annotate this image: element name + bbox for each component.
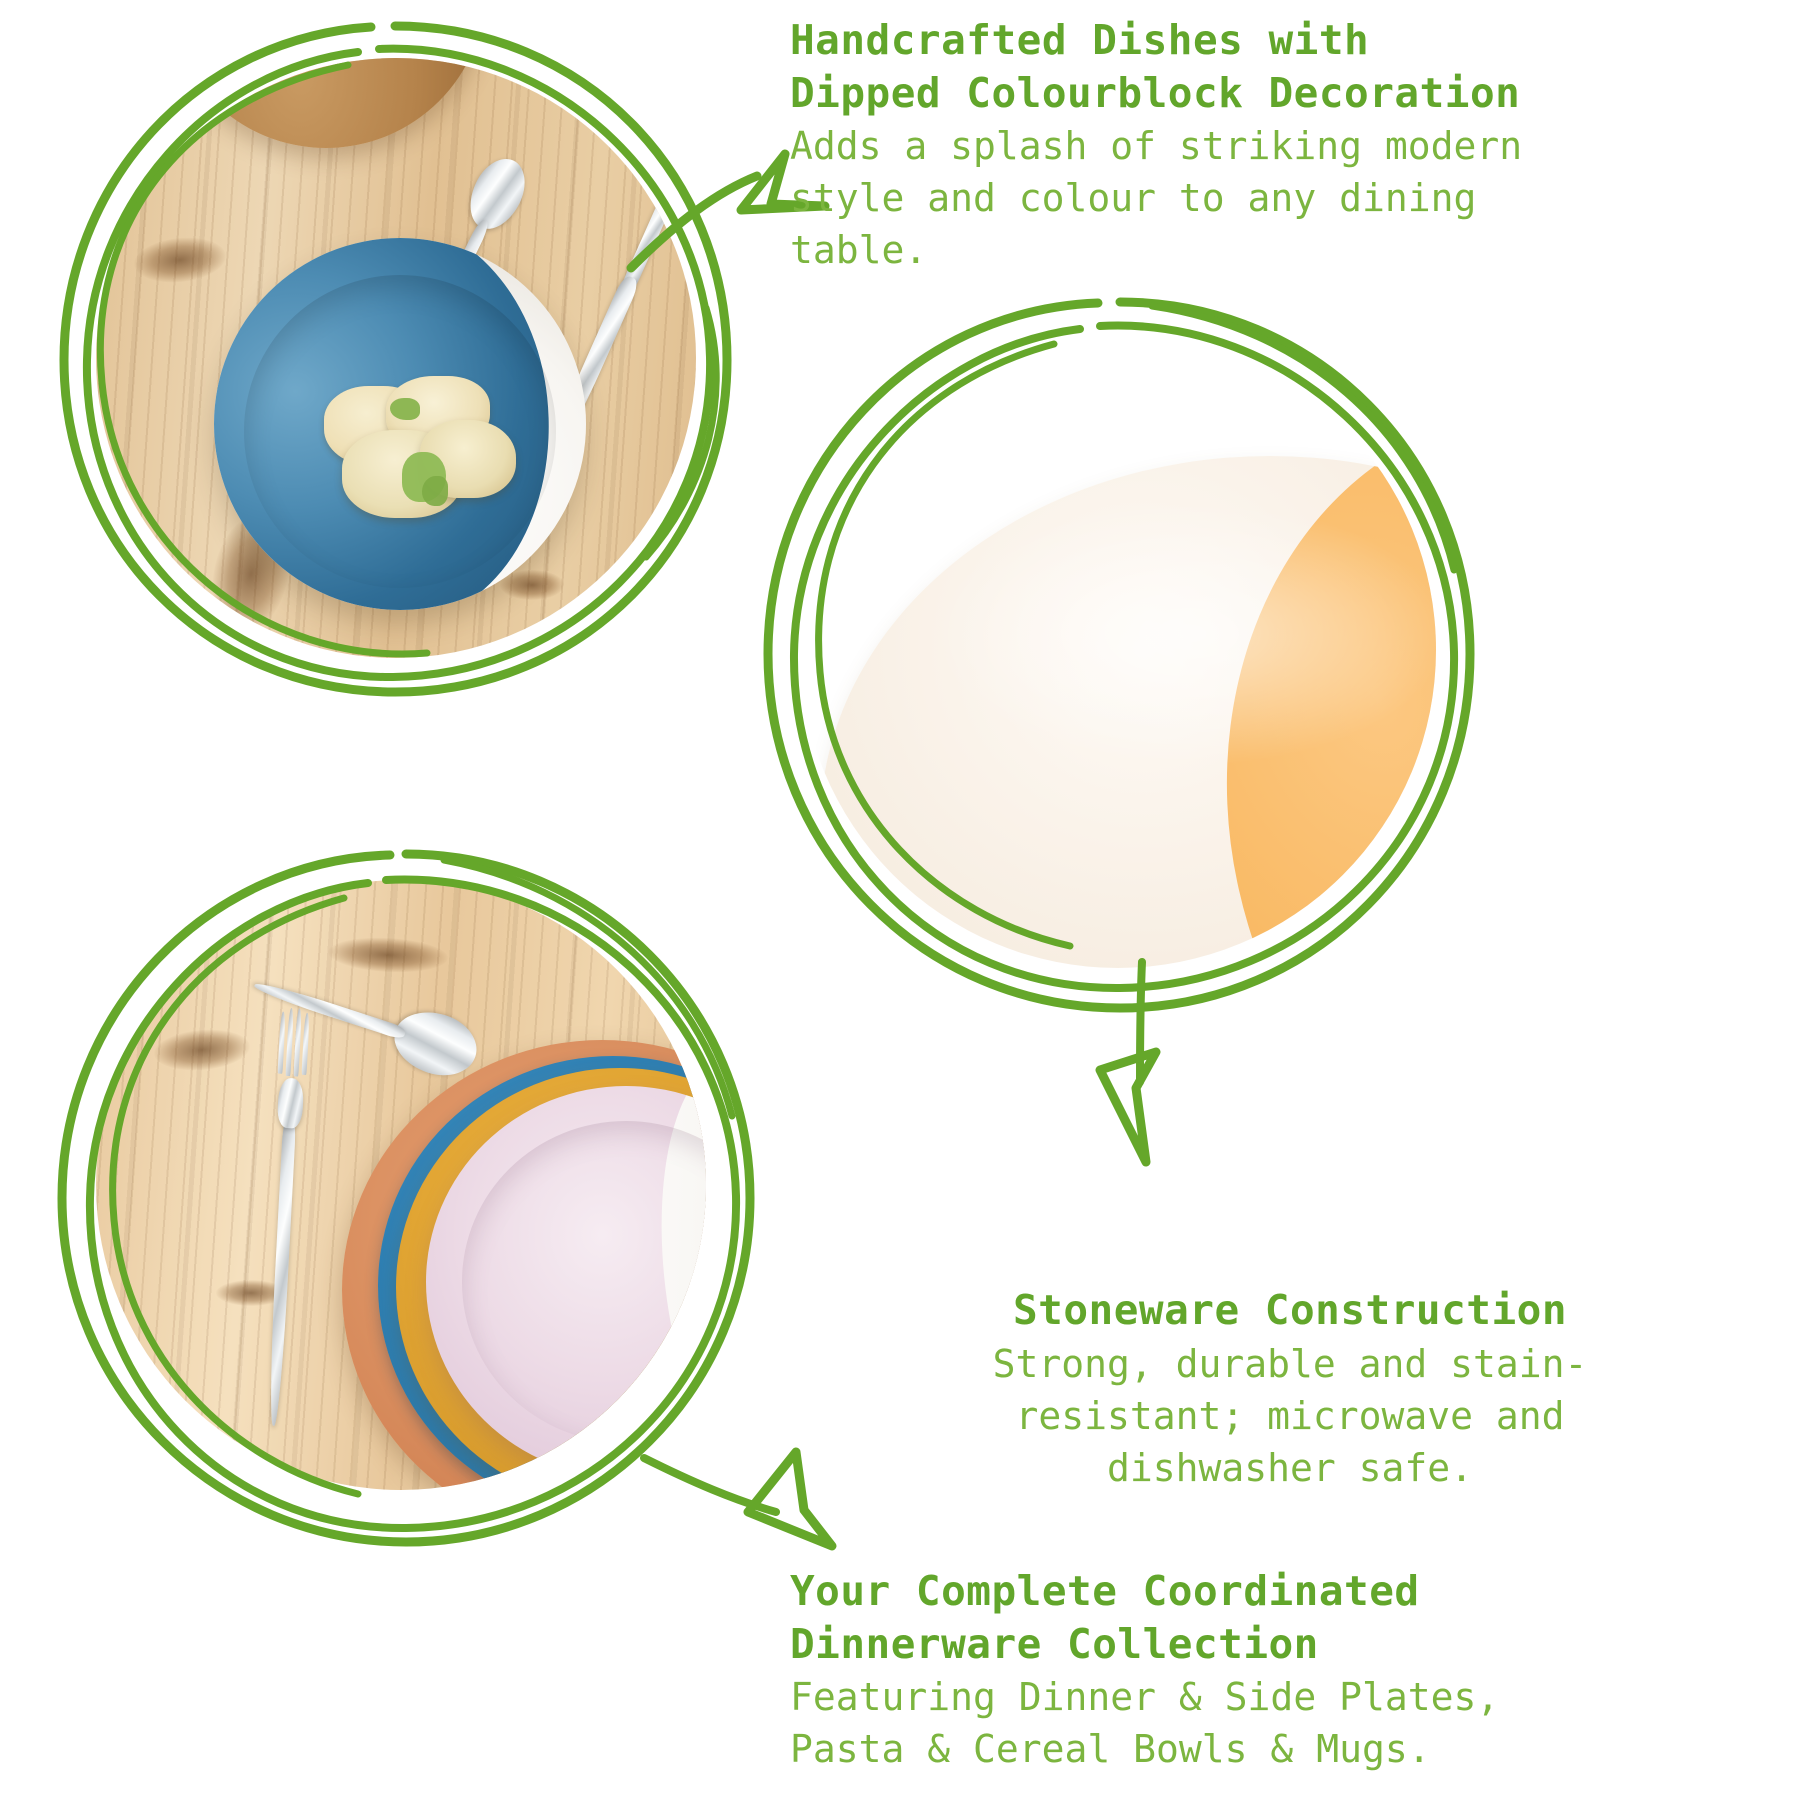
feature-collection: Your Complete Coordinated Dinnerware Col… (790, 1565, 1800, 1775)
infographic-canvas: Handcrafted Dishes with Dipped Colourblo… (0, 0, 1800, 1800)
feature-3-heading-line-1: Your Complete Coordinated (790, 1565, 1800, 1618)
feature-2-body-line-2: resistant; microwave and (790, 1390, 1790, 1442)
feature-dipped-colourblock: Handcrafted Dishes with Dipped Colourblo… (790, 14, 1790, 276)
ravioli-pile (324, 376, 514, 526)
feature-2-heading-line-1: Stoneware Construction (790, 1283, 1790, 1338)
feature-1-body-line-3: table. (790, 224, 1790, 276)
feature-3-body-line-2: Pasta & Cereal Bowls & Mugs. (790, 1723, 1800, 1775)
dipped-pasta-bowl (214, 238, 586, 610)
feature-1-heading-line-1: Handcrafted Dishes with (790, 14, 1790, 67)
feature-2-body-line-1: Strong, durable and stain- (790, 1338, 1790, 1390)
herb-garnish (422, 476, 448, 506)
photo-stacked-dinnerware (96, 880, 706, 1490)
herb-garnish (390, 398, 420, 420)
feature-1-body-line-2: style and colour to any dining (790, 172, 1790, 224)
feature-stoneware: Stoneware Construction Strong, durable a… (790, 1283, 1790, 1494)
feature-1-body-line-1: Adds a splash of striking modern (790, 120, 1790, 172)
arrow-down-icon (1082, 958, 1202, 1178)
plate-sheen (928, 500, 1436, 766)
photo-dipped-plate-closeup (800, 332, 1436, 968)
photo-pasta-bowl (96, 58, 696, 658)
feature-3-body-line-1: Featuring Dinner & Side Plates, (790, 1671, 1800, 1723)
feature-2-body-line-3: dishwasher safe. (790, 1442, 1790, 1494)
dipped-plate (820, 456, 1436, 968)
feature-3-heading-line-2: Dinnerware Collection (790, 1618, 1800, 1671)
feature-1-heading-line-2: Dipped Colourblock Decoration (790, 67, 1790, 120)
